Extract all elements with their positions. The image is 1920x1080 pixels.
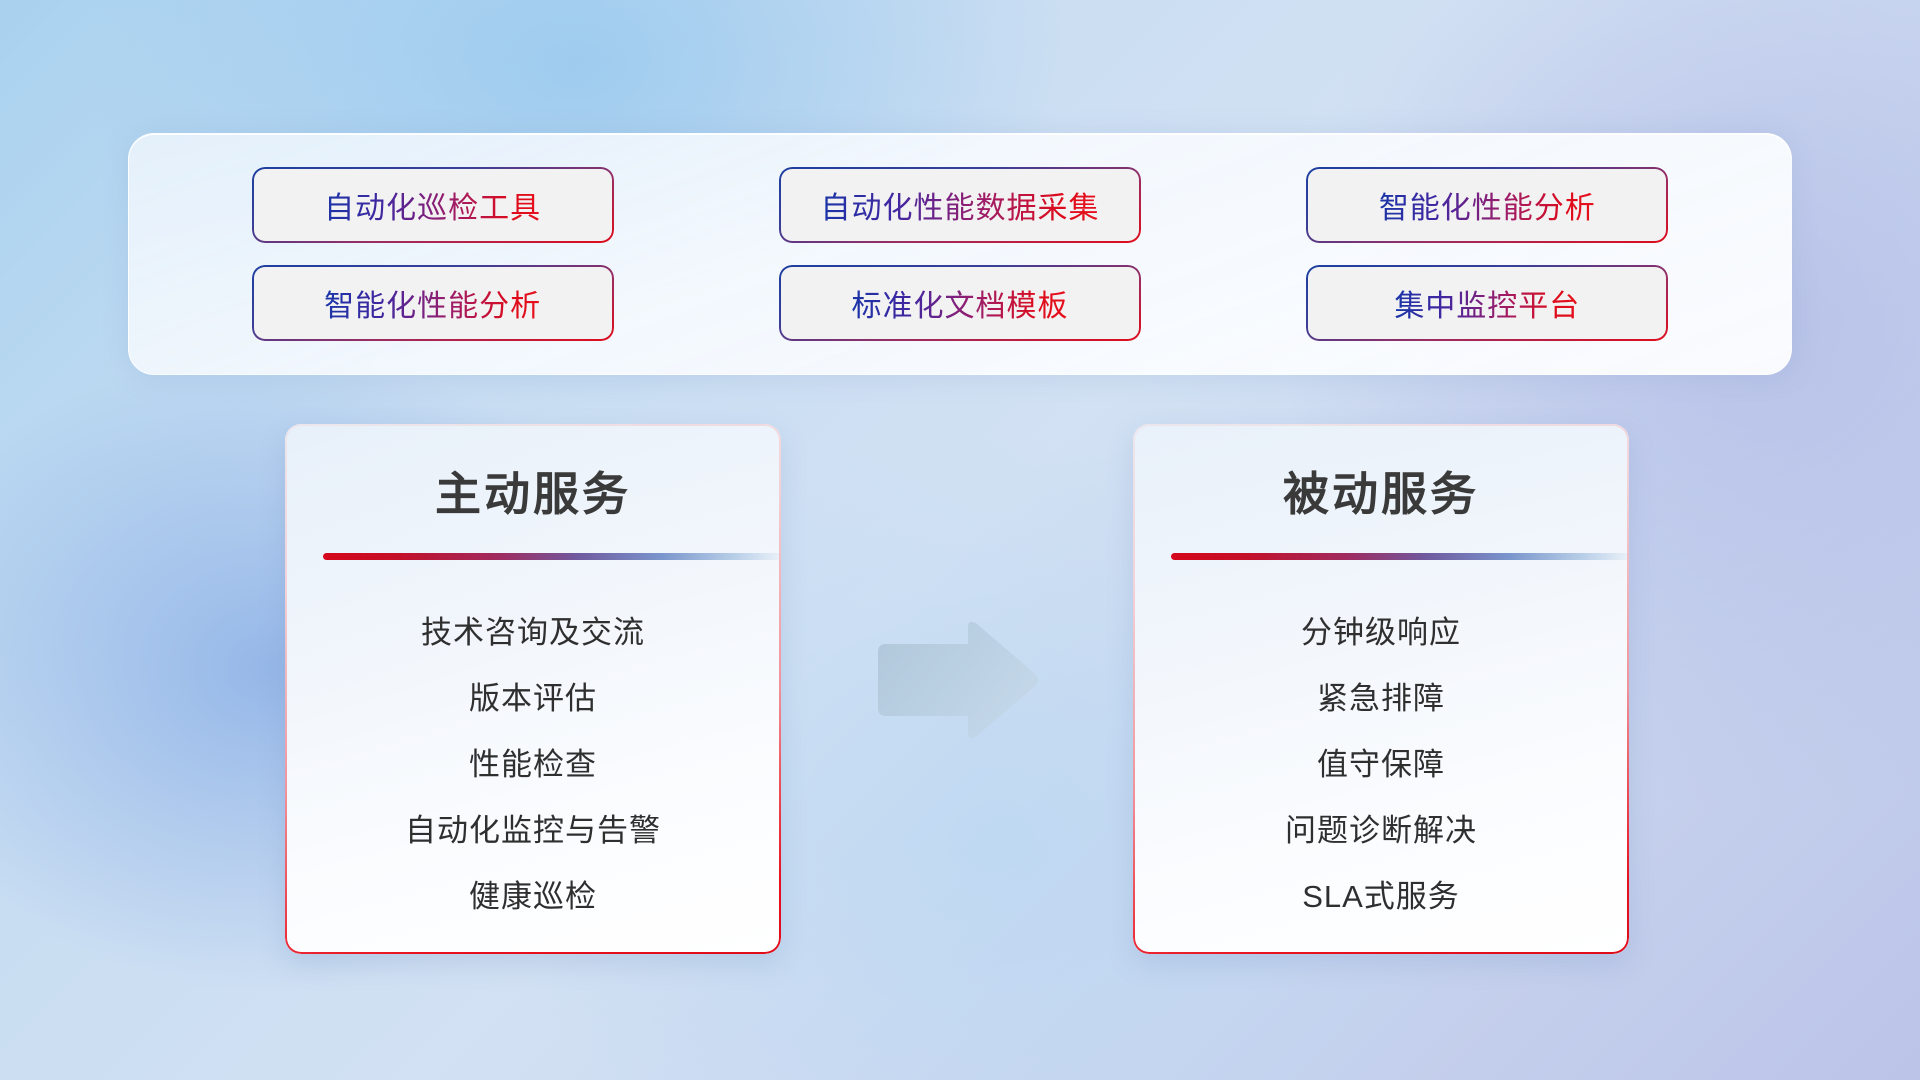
- capability-pill-centralized-monitoring-platform[interactable]: 集中监控平台: [1308, 267, 1666, 339]
- capability-pill-label: 自动化巡检工具: [324, 183, 541, 227]
- proactive-service-title: 主动服务: [285, 458, 781, 524]
- capability-pill-intelligent-performance-analysis-top[interactable]: 智能化性能分析: [1308, 169, 1666, 241]
- list-item: 紧急排障: [1317, 662, 1445, 728]
- reactive-title-divider: [1171, 553, 1629, 560]
- capability-pill-label: 智能化性能分析: [324, 281, 541, 325]
- capability-pill-standardized-document-template[interactable]: 标准化文档模板: [781, 267, 1139, 339]
- capability-pill-label: 智能化性能分析: [1379, 183, 1596, 227]
- capability-pill-label: 自动化性能数据采集: [820, 183, 1099, 227]
- list-item: 健康巡检: [469, 860, 597, 926]
- reactive-service-card[interactable]: 被动服务 分钟级响应 紧急排障 值守保障 问题诊断解决 SLA式服务: [1133, 424, 1629, 954]
- list-item: 版本评估: [469, 662, 597, 728]
- list-item: SLA式服务: [1302, 860, 1460, 926]
- reactive-service-list: 分钟级响应 紧急排障 值守保障 问题诊断解决 SLA式服务: [1133, 596, 1629, 926]
- capability-pills-grid: 自动化巡检工具 自动化性能数据采集 智能化性能分析 智能化性能分析 标准化文档模…: [129, 134, 1791, 374]
- reactive-service-title: 被动服务: [1133, 458, 1629, 524]
- list-item: 自动化监控与告警: [405, 794, 661, 860]
- list-item: 分钟级响应: [1301, 596, 1461, 662]
- list-item: 性能检查: [469, 728, 597, 794]
- proactive-title-divider: [323, 553, 781, 560]
- proactive-service-card[interactable]: 主动服务 技术咨询及交流 版本评估 性能检查 自动化监控与告警 健康巡检: [285, 424, 781, 954]
- list-item: 问题诊断解决: [1285, 794, 1477, 860]
- capability-pill-label: 标准化文档模板: [851, 281, 1068, 325]
- capability-pills-panel: 自动化巡检工具 自动化性能数据采集 智能化性能分析 智能化性能分析 标准化文档模…: [128, 133, 1792, 375]
- list-item: 技术咨询及交流: [421, 596, 645, 662]
- flow-arrow: [872, 618, 1040, 742]
- capability-pill-intelligent-performance-analysis-bottom[interactable]: 智能化性能分析: [254, 267, 612, 339]
- proactive-service-list: 技术咨询及交流 版本评估 性能检查 自动化监控与告警 健康巡检: [285, 596, 781, 926]
- arrow-right-icon: [872, 618, 1040, 742]
- capability-pill-automated-performance-data-collection[interactable]: 自动化性能数据采集: [781, 169, 1139, 241]
- list-item: 值守保障: [1317, 728, 1445, 794]
- capability-pill-label: 集中监控平台: [1394, 281, 1580, 325]
- capability-pill-automated-inspection-tool[interactable]: 自动化巡检工具: [254, 169, 612, 241]
